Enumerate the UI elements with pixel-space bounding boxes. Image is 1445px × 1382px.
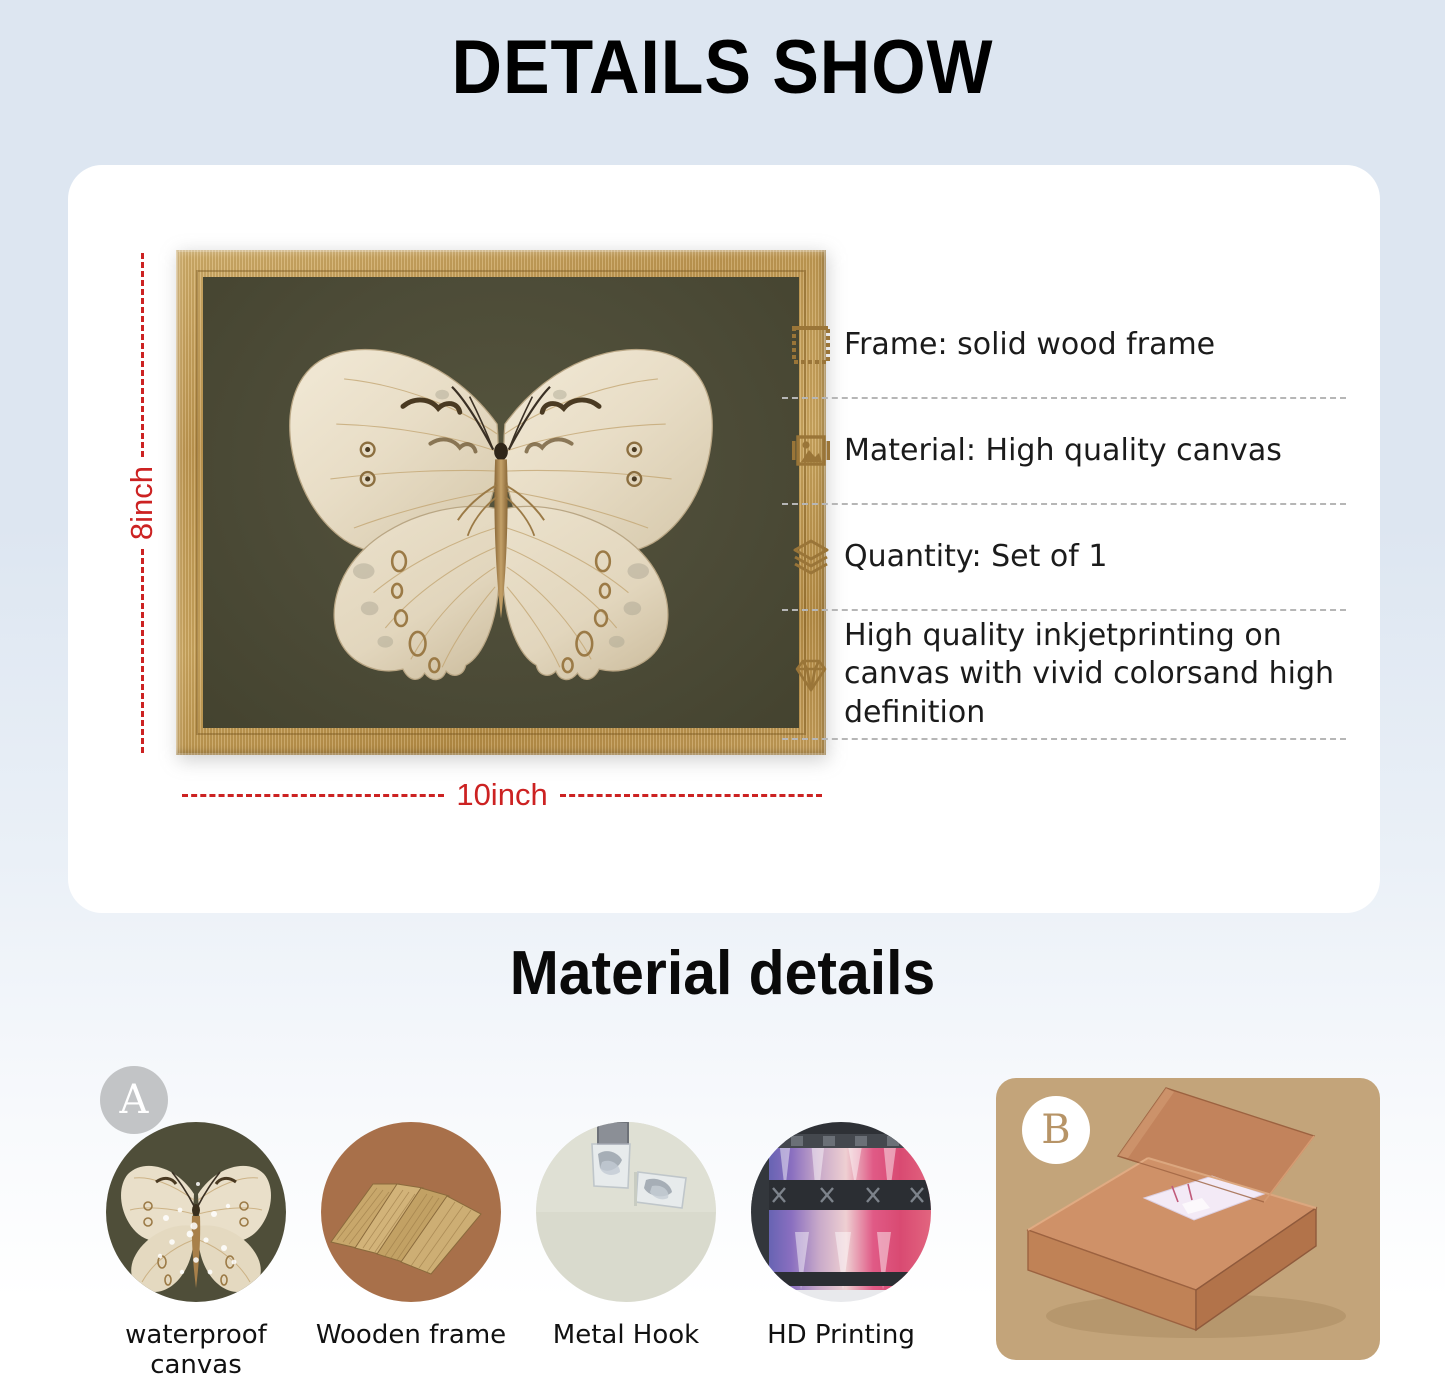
feature-row-quantity: Quantity: Set of 1 bbox=[778, 505, 1350, 609]
feature-row-frame: Frame: solid wood frame bbox=[778, 293, 1350, 397]
thumbnail-label: Metal Hook bbox=[526, 1320, 726, 1350]
feature-list: Frame: solid wood frame Material: High q… bbox=[778, 293, 1350, 740]
canvas-artwork bbox=[203, 277, 799, 728]
butterfly-illustration bbox=[203, 277, 799, 728]
feature-label: Quantity: Set of 1 bbox=[844, 538, 1107, 576]
frame-icon bbox=[778, 323, 844, 367]
thumbnail-label: Wooden frame bbox=[311, 1320, 511, 1350]
material-group-a: A bbox=[96, 1062, 946, 1382]
feature-label: Material: High quality canvas bbox=[844, 432, 1282, 470]
dimension-line-left bbox=[182, 794, 444, 797]
material-group-b: B bbox=[996, 1078, 1380, 1360]
metal-hook-swatch bbox=[536, 1122, 716, 1302]
dimension-width-label: 10inch bbox=[444, 777, 559, 813]
dimension-line-top bbox=[141, 253, 144, 457]
printer-swatch bbox=[751, 1122, 931, 1302]
thumbnail-item[interactable]: Metal Hook bbox=[526, 1122, 726, 1380]
material-thumbnail-list: waterproof canvas bbox=[96, 1122, 946, 1380]
section-title: Material details bbox=[36, 938, 1409, 1009]
wooden-picture-frame bbox=[176, 250, 826, 755]
dimension-line-right bbox=[560, 794, 822, 797]
dimension-line-bottom bbox=[141, 549, 144, 753]
layers-icon bbox=[778, 535, 844, 579]
dimension-width: 10inch bbox=[182, 773, 822, 817]
thumbnail-item[interactable]: waterproof canvas bbox=[96, 1122, 296, 1380]
page-title: DETAILS SHOW bbox=[58, 0, 1387, 111]
feature-label: High quality inkjetprinting on canvas wi… bbox=[844, 617, 1350, 732]
feature-label: Frame: solid wood frame bbox=[844, 326, 1215, 364]
artwork-preview: 8inch 10inch bbox=[108, 165, 808, 913]
thumbnail-label: waterproof canvas bbox=[96, 1320, 296, 1380]
details-card: 8inch 10inch Frame: solid wood frame bbox=[68, 165, 1380, 913]
canvas-swatch bbox=[106, 1122, 286, 1302]
badge-a: A bbox=[100, 1066, 168, 1134]
dimension-height-label: 8inch bbox=[124, 457, 160, 549]
feature-row-material: Material: High quality canvas bbox=[778, 399, 1350, 503]
thumbnail-label: HD Printing bbox=[741, 1320, 941, 1350]
wood-frame-swatch bbox=[321, 1122, 501, 1302]
image-icon bbox=[778, 429, 844, 473]
diamond-icon bbox=[778, 652, 844, 698]
feature-divider bbox=[782, 738, 1346, 740]
thumbnail-item[interactable]: HD Printing bbox=[741, 1122, 941, 1380]
badge-b: B bbox=[1022, 1096, 1090, 1164]
thumbnail-item[interactable]: Wooden frame bbox=[311, 1122, 511, 1380]
dimension-height: 8inch bbox=[120, 253, 164, 753]
feature-row-printing: High quality inkjetprinting on canvas wi… bbox=[778, 611, 1350, 738]
